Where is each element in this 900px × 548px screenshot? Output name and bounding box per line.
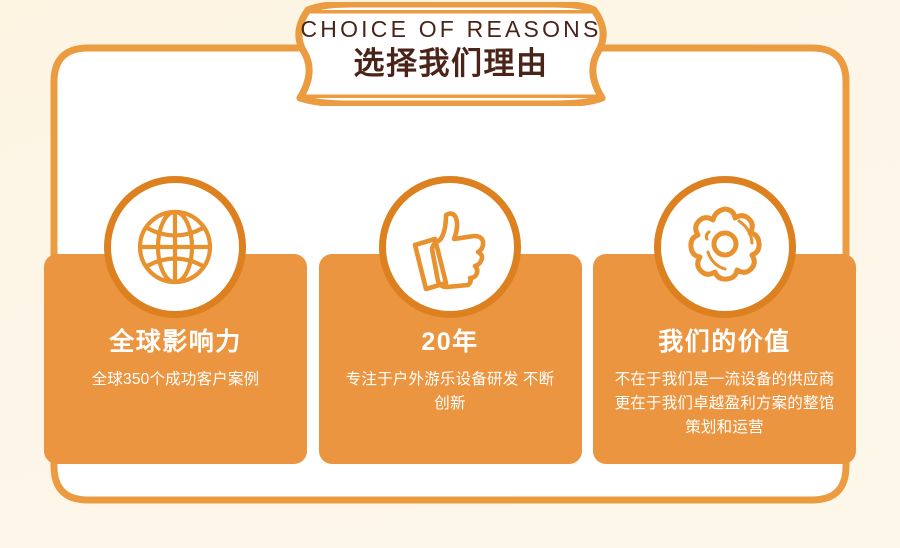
gear-icon xyxy=(677,199,773,295)
card-description: 全球350个成功客户案例 xyxy=(64,368,288,392)
card-title: 我们的价值 xyxy=(658,330,791,355)
feature-icon-badge-3 xyxy=(654,176,796,318)
card-description: 专注于户外游乐设备研发 不断创新 xyxy=(338,368,562,416)
card-title: 全球影响力 xyxy=(109,330,242,355)
banner-chinese-title: 选择我们理由 xyxy=(354,47,549,81)
banner-english-title: CHOICE OF REASONS xyxy=(300,18,601,41)
card-title: 20年 xyxy=(421,330,478,355)
card-description: 不在于我们是一流设备的供应商 更在于我们卓越盈利方案的整馆策划和运营 xyxy=(613,368,837,440)
feature-icon-badge-1 xyxy=(104,176,246,318)
feature-icon-badge-2 xyxy=(379,176,521,318)
banner-ribbon: CHOICE OF REASONS 选择我们理由 xyxy=(262,2,640,106)
promo-banner-canvas: CHOICE OF REASONS 选择我们理由 全球影响力 全球350个成功客… xyxy=(0,0,900,548)
globe-icon xyxy=(127,199,223,295)
thumbs-up-icon xyxy=(402,199,498,295)
